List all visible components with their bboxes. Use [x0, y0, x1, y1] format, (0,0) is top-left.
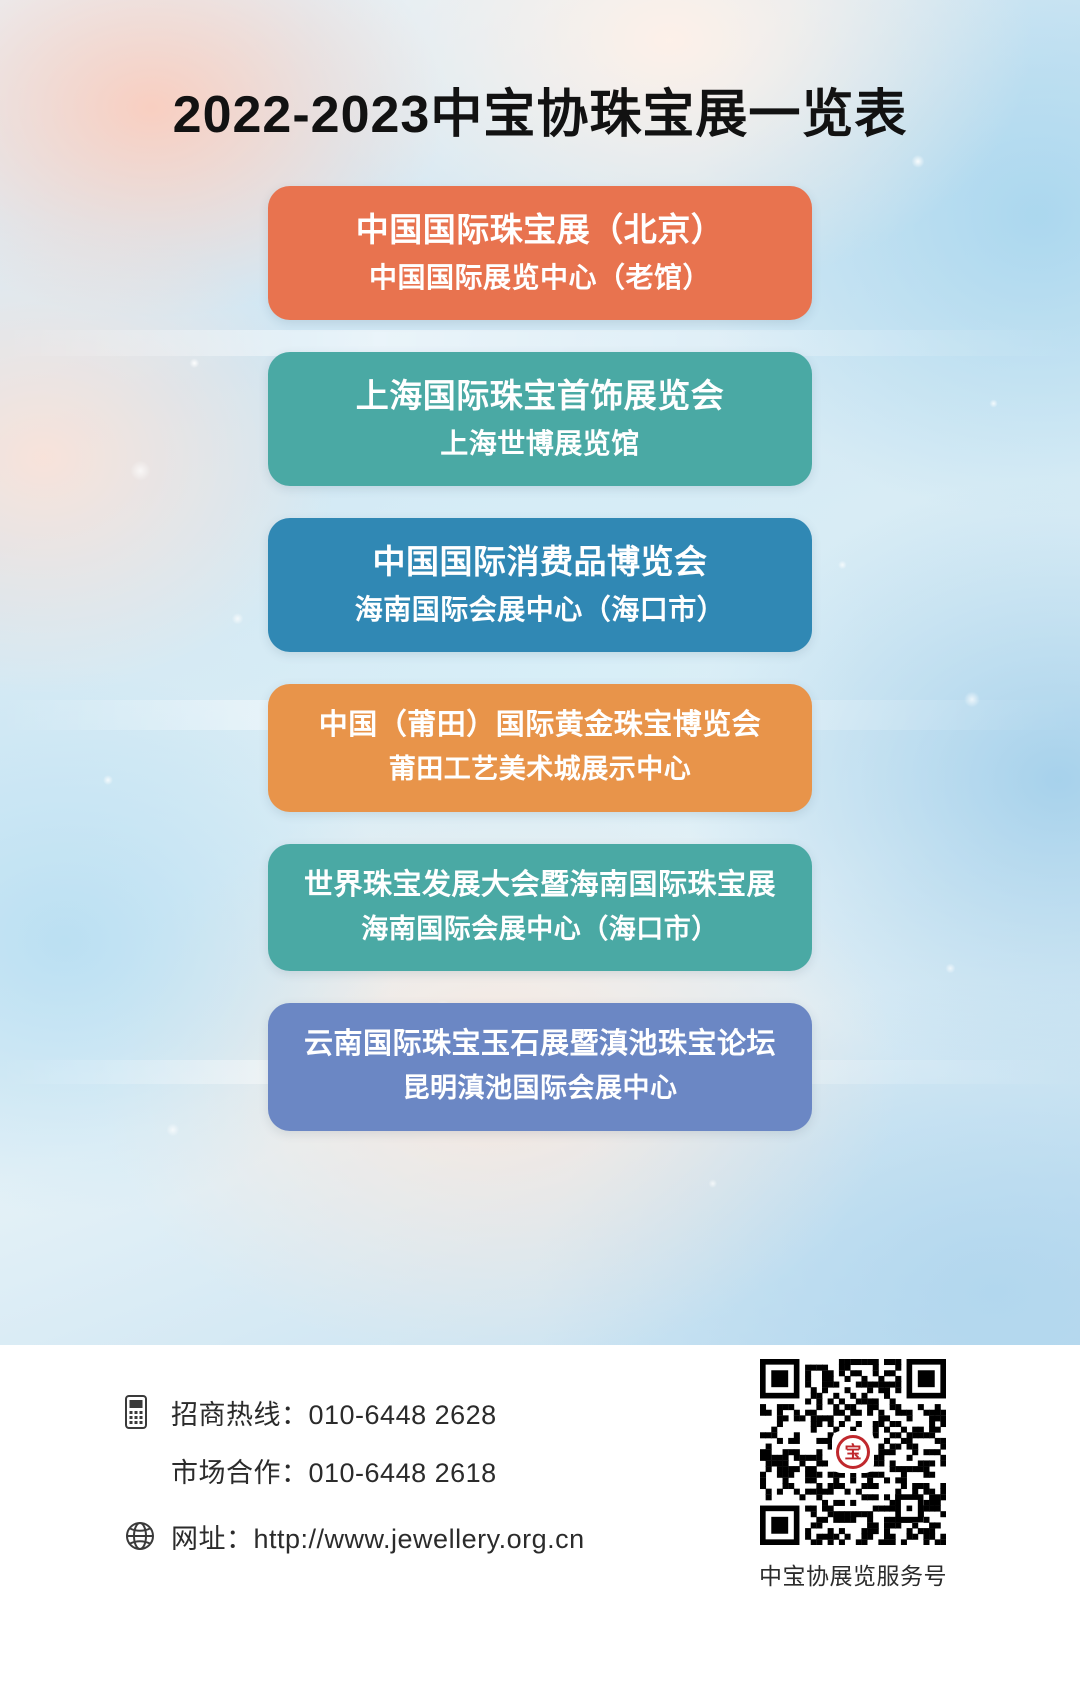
exhibition-venue: 海南国际会展中心（海口市） — [286, 911, 794, 947]
exhibition-name: 云南国际珠宝玉石展暨滇池珠宝论坛 — [286, 1025, 794, 1063]
qr-caption: 中宝协展览服务号 — [738, 1557, 968, 1591]
exhibition-card-putian[interactable]: 中国（莆田）国际黄金珠宝博览会 莆田工艺美术城展示中心 — [268, 684, 812, 811]
contact-hotline-text: 招商热线：010-6448 2628 — [171, 1393, 497, 1432]
footer: 招商热线：010-6448 2628 市场合作：010-6448 2618 网址 — [0, 1345, 1080, 1688]
exhibition-card-consumer-expo[interactable]: 中国国际消费品博览会 海南国际会展中心（海口市） — [268, 518, 812, 652]
exhibition-venue: 海南国际会展中心（海口市） — [286, 591, 794, 629]
exhibition-name: 中国（莆田）国际黄金珠宝博览会 — [286, 706, 794, 744]
contact-market-text: 市场合作：010-6448 2618 — [171, 1451, 497, 1490]
exhibition-card-yunnan[interactable]: 云南国际珠宝玉石展暨滇池珠宝论坛 昆明滇池国际会展中心 — [268, 1003, 812, 1130]
contact-block: 招商热线：010-6448 2628 市场合作：010-6448 2618 网址 — [125, 1392, 685, 1574]
exhibition-name: 中国国际消费品博览会 — [286, 540, 794, 584]
poster-root: 2022-2023中宝协珠宝展一览表 中国国际珠宝展（北京） 中国国际展览中心（… — [0, 0, 1080, 1688]
globe-icon — [125, 1516, 159, 1556]
exhibition-venue: 莆田工艺美术城展示中心 — [286, 751, 794, 787]
exhibition-venue: 上海世博展览馆 — [286, 425, 794, 463]
contact-website-text: 网址：http://www.jewellery.org.cn — [171, 1517, 585, 1556]
exhibition-venue: 中国国际展览中心（老馆） — [286, 259, 794, 297]
exhibition-card-shanghai[interactable]: 上海国际珠宝首饰展览会 上海世博展览馆 — [268, 352, 812, 486]
contact-row-website[interactable]: 网址：http://www.jewellery.org.cn — [125, 1516, 685, 1556]
exhibition-name: 世界珠宝发展大会暨海南国际珠宝展 — [286, 866, 794, 904]
mobile-phone-icon — [125, 1392, 159, 1432]
qr-logo-glyph: 宝 — [836, 1435, 870, 1469]
exhibition-card-beijing[interactable]: 中国国际珠宝展（北京） 中国国际展览中心（老馆） — [268, 186, 812, 320]
qr-block: 宝 中宝协展览服务号 — [738, 1359, 968, 1591]
exhibition-name: 中国国际珠宝展（北京） — [286, 208, 794, 252]
exhibition-card-list: 中国国际珠宝展（北京） 中国国际展览中心（老馆） 上海国际珠宝首饰展览会 上海世… — [0, 186, 1080, 1163]
page-title: 2022-2023中宝协珠宝展一览表 — [0, 72, 1080, 147]
qr-code[interactable]: 宝 — [760, 1359, 946, 1545]
contact-row-market: 市场合作：010-6448 2618 — [125, 1450, 685, 1490]
qr-center-logo: 宝 — [832, 1431, 874, 1473]
contact-row-hotline: 招商热线：010-6448 2628 — [125, 1392, 685, 1432]
exhibition-name: 上海国际珠宝首饰展览会 — [286, 374, 794, 418]
exhibition-card-hainan[interactable]: 世界珠宝发展大会暨海南国际珠宝展 海南国际会展中心（海口市） — [268, 844, 812, 971]
exhibition-venue: 昆明滇池国际会展中心 — [286, 1070, 794, 1106]
